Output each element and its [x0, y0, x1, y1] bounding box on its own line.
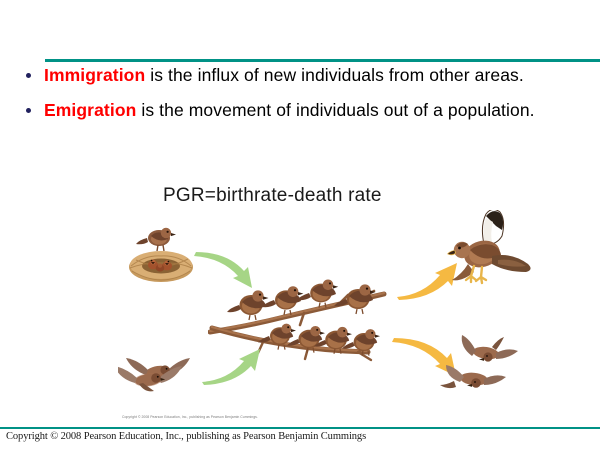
bullet-body-text: is the influx of new individuals from ot… — [145, 65, 524, 85]
pgr-equation: PGR=birthrate-death rate — [163, 185, 382, 207]
birds-flying-in-icon — [118, 350, 203, 395]
list-item: Emigration is the movement of individual… — [10, 99, 590, 121]
population-diagram — [0, 210, 600, 420]
bullet-list: Immigration is the influx of new individ… — [10, 64, 590, 134]
footer-divider-rule — [0, 427, 600, 429]
keyword-emigration: Emigration — [44, 100, 136, 120]
copyright-notice: Copyright © 2008 Pearson Education, Inc.… — [6, 431, 366, 442]
figure-micro-credit: Copyright © 2008 Pearson Education, Inc.… — [122, 415, 258, 419]
birds-flying-out-icon — [440, 335, 535, 400]
slide-canvas: Immigration is the influx of new individ… — [0, 0, 600, 450]
bullet-text: Immigration is the influx of new individ… — [44, 65, 524, 85]
bullet-body-text: is the movement of individuals out of a … — [136, 100, 534, 120]
immigration-arrow-icon — [200, 340, 270, 385]
top-divider-rule — [45, 59, 600, 62]
hawk-predator-icon — [440, 210, 565, 290]
keyword-immigration: Immigration — [44, 65, 145, 85]
bullet-dot-icon — [26, 73, 31, 78]
list-item: Immigration is the influx of new individ… — [10, 64, 590, 86]
bullet-dot-icon — [26, 108, 31, 113]
bullet-text: Emigration is the movement of individual… — [44, 100, 535, 120]
